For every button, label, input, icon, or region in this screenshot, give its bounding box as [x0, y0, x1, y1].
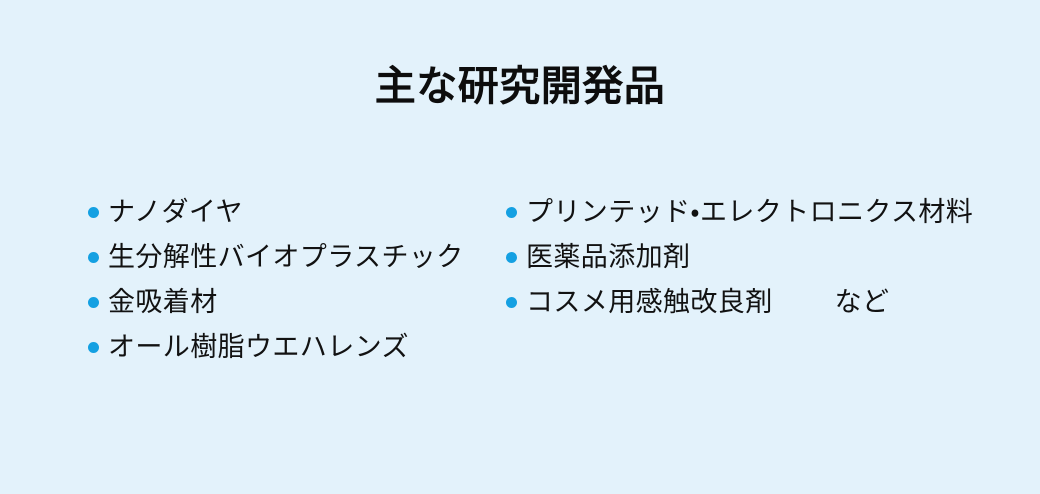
- list-item: 医薬品添加剤: [506, 235, 1016, 280]
- list-item-label: 生分解性バイオプラスチック: [108, 243, 464, 273]
- bullet-icon: [88, 252, 99, 263]
- bullet-icon: [88, 297, 99, 308]
- list-item: ナノダイヤ: [88, 190, 488, 235]
- list-item-label: 金吸着材: [108, 288, 218, 318]
- product-list-left-column: ナノダイヤ 生分解性バイオプラスチック 金吸着材 オール樹脂ウエハレンズ: [88, 190, 488, 370]
- list-item-label: ナノダイヤ: [108, 198, 243, 228]
- list-item-label: オール樹脂ウエハレンズ: [108, 333, 409, 363]
- product-list-right-column: プリンテッド・エレクトロニクス材料 医薬品添加剤 コスメ用感触改良剤 など: [506, 190, 1016, 325]
- list-item-label: プリンテッド・エレクトロニクス材料: [526, 198, 973, 228]
- list-item: プリンテッド・エレクトロニクス材料: [506, 190, 1016, 235]
- bullet-icon: [506, 297, 517, 308]
- slide-canvas: 主な研究開発品 ナノダイヤ 生分解性バイオプラスチック 金吸着材 オール樹脂ウエ…: [0, 0, 1040, 494]
- list-suffix-label: など: [835, 288, 890, 318]
- list-item-label: 医薬品添加剤: [526, 243, 690, 273]
- bullet-icon: [506, 207, 517, 218]
- list-item: 金吸着材: [88, 280, 488, 325]
- bullet-icon: [506, 252, 517, 263]
- list-item: 生分解性バイオプラスチック: [88, 235, 488, 280]
- page-title: 主な研究開発品: [0, 62, 1040, 110]
- list-item-label: コスメ用感触改良剤: [526, 288, 773, 318]
- product-list: ナノダイヤ 生分解性バイオプラスチック 金吸着材 オール樹脂ウエハレンズ プリン…: [0, 190, 1040, 390]
- list-item: コスメ用感触改良剤 など: [506, 280, 1016, 325]
- bullet-icon: [88, 342, 99, 353]
- bullet-icon: [88, 207, 99, 218]
- list-item: オール樹脂ウエハレンズ: [88, 325, 488, 370]
